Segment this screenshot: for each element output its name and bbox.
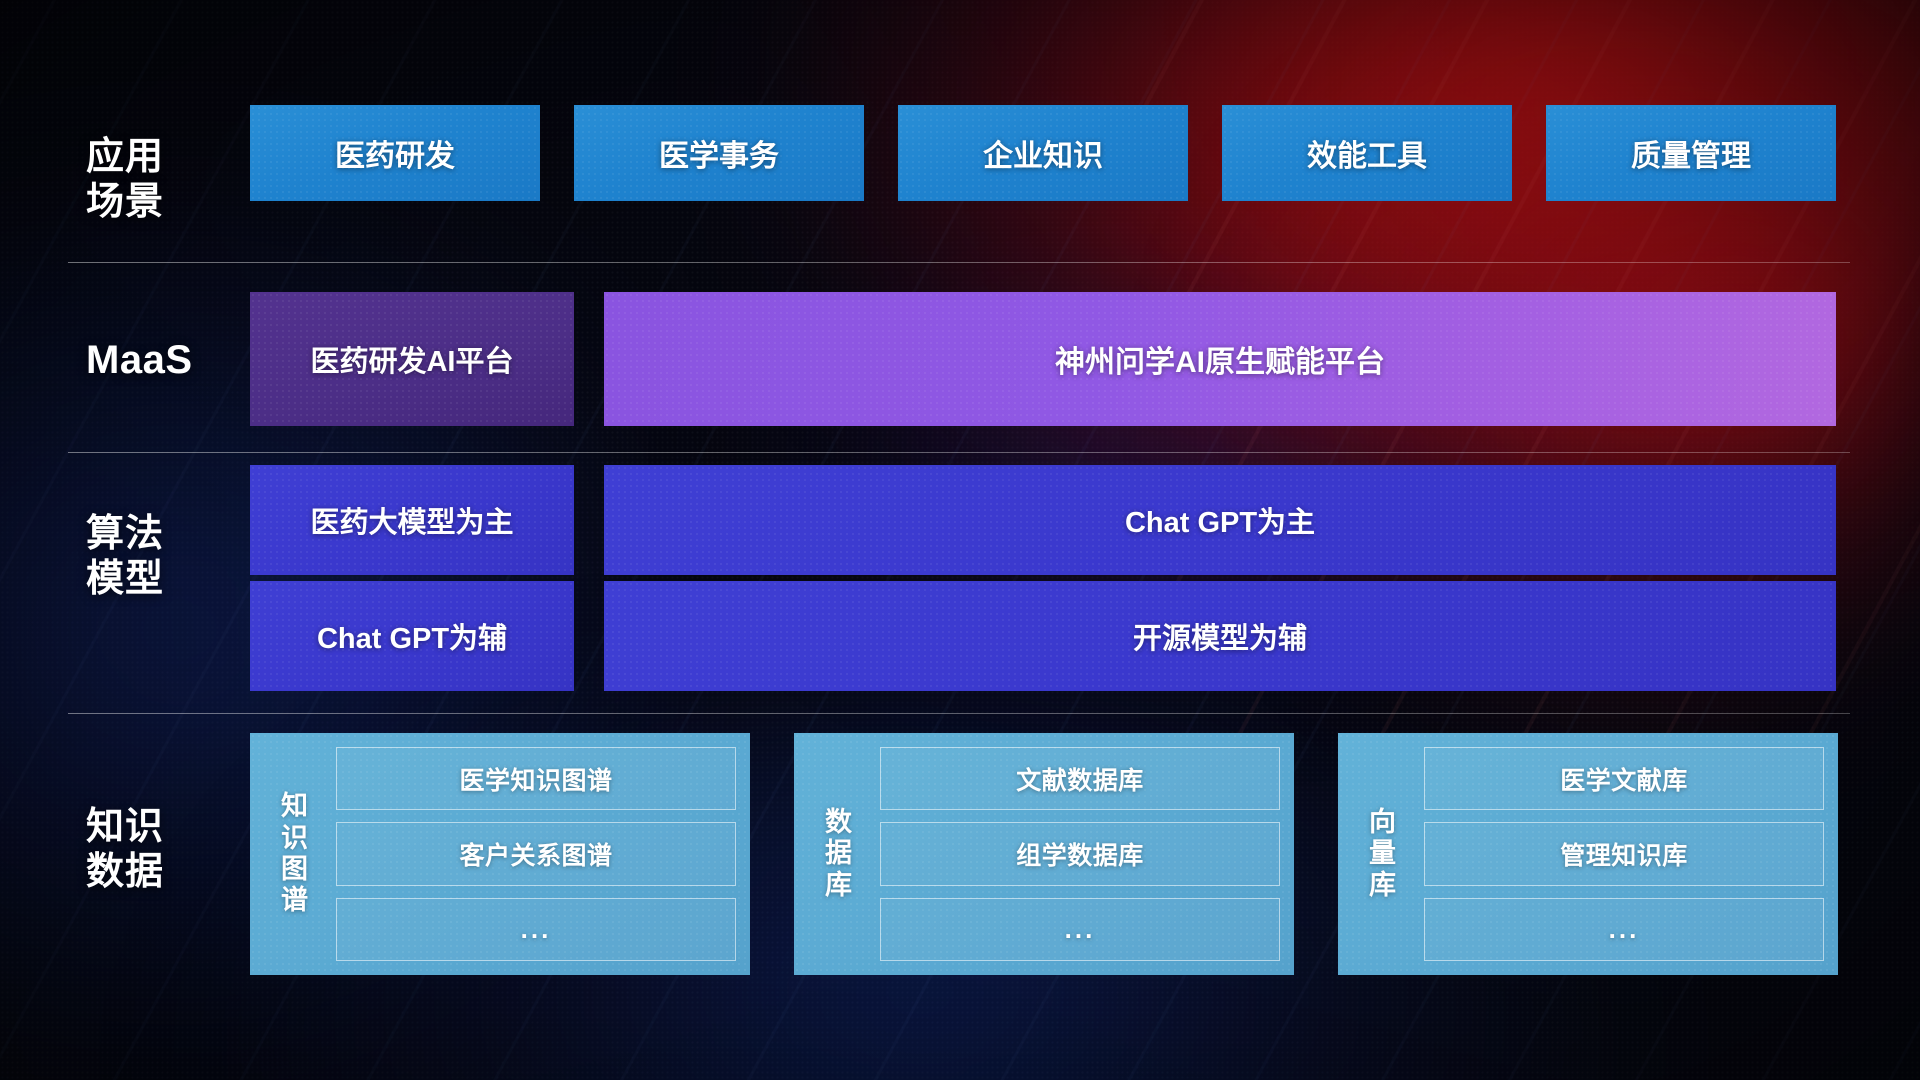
- algo-box-chatgpt-secondary-label: Chat GPT为辅: [317, 615, 507, 657]
- app-box-quality-management[interactable]: 质量管理: [1546, 105, 1836, 201]
- row-label-application: 应用 场景: [86, 135, 216, 225]
- app-box-efficiency-tools-label: 效能工具: [1307, 131, 1427, 175]
- algo-box-pharma-llm-primary-label: 医药大模型为主: [310, 499, 513, 541]
- knowledge-item-crm-graph[interactable]: 客户关系图谱: [336, 822, 736, 885]
- knowledge-group-vector-side-label: 向 量 库: [1354, 747, 1412, 961]
- knowledge-group-database-items: 文献数据库 组学数据库 ...: [880, 747, 1280, 961]
- knowledge-item-medical-graph[interactable]: 医学知识图谱: [336, 747, 736, 810]
- algo-box-chatgpt-secondary[interactable]: Chat GPT为辅: [250, 581, 574, 691]
- app-box-quality-management-label: 质量管理: [1631, 131, 1751, 175]
- algo-box-opensource-secondary[interactable]: 开源模型为辅: [604, 581, 1836, 691]
- knowledge-item-graph-more[interactable]: ...: [336, 898, 736, 961]
- knowledge-group-database[interactable]: 数 据 库 文献数据库 组学数据库 ...: [794, 733, 1294, 975]
- knowledge-item-vector-more[interactable]: ...: [1424, 898, 1824, 961]
- maas-box-shenzhou-platform-label: 神州问学AI原生赋能平台: [1055, 337, 1385, 381]
- divider-application-maas: [68, 262, 1850, 263]
- app-box-efficiency-tools[interactable]: 效能工具: [1222, 105, 1512, 201]
- row-label-algorithm: 算法 模型: [86, 512, 216, 602]
- app-box-enterprise-knowledge-label: 企业知识: [983, 131, 1103, 175]
- maas-box-shenzhou-platform[interactable]: 神州问学AI原生赋能平台: [604, 292, 1836, 426]
- knowledge-group-vector-items: 医学文献库 管理知识库 ...: [1424, 747, 1824, 961]
- algo-box-chatgpt-primary[interactable]: Chat GPT为主: [604, 465, 1836, 575]
- knowledge-group-graph-side-label: 知 识 图 谱: [266, 747, 324, 961]
- knowledge-item-database-more[interactable]: ...: [880, 898, 1280, 961]
- knowledge-item-literature-db[interactable]: 文献数据库: [880, 747, 1280, 810]
- divider-algorithm-knowledge: [68, 713, 1850, 714]
- knowledge-item-medical-literature[interactable]: 医学文献库: [1424, 747, 1824, 810]
- algo-box-chatgpt-primary-label: Chat GPT为主: [1125, 499, 1315, 541]
- maas-box-drug-ai-platform-label: 医药研发AI平台: [310, 338, 513, 380]
- architecture-diagram: 应用 场景 医药研发 医学事务 企业知识 效能工具 质量管理 MaaS 医药研发…: [0, 0, 1920, 1080]
- algo-box-opensource-secondary-label: 开源模型为辅: [1133, 615, 1307, 657]
- maas-box-drug-ai-platform[interactable]: 医药研发AI平台: [250, 292, 574, 426]
- app-box-drug-rd[interactable]: 医药研发: [250, 105, 540, 201]
- divider-maas-algorithm: [68, 452, 1850, 453]
- knowledge-group-database-side-label: 数 据 库: [810, 747, 868, 961]
- knowledge-item-omics-db[interactable]: 组学数据库: [880, 822, 1280, 885]
- app-box-drug-rd-label: 医药研发: [335, 131, 455, 175]
- app-box-medical-affairs[interactable]: 医学事务: [574, 105, 864, 201]
- app-box-medical-affairs-label: 医学事务: [659, 131, 779, 175]
- knowledge-item-management-knowledge[interactable]: 管理知识库: [1424, 822, 1824, 885]
- knowledge-group-graph-items: 医学知识图谱 客户关系图谱 ...: [336, 747, 736, 961]
- row-label-knowledge: 知识 数据: [86, 805, 216, 895]
- app-box-enterprise-knowledge[interactable]: 企业知识: [898, 105, 1188, 201]
- row-label-maas: MaaS: [86, 337, 216, 384]
- knowledge-group-graph[interactable]: 知 识 图 谱 医学知识图谱 客户关系图谱 ...: [250, 733, 750, 975]
- knowledge-group-vector[interactable]: 向 量 库 医学文献库 管理知识库 ...: [1338, 733, 1838, 975]
- algo-box-pharma-llm-primary[interactable]: 医药大模型为主: [250, 465, 574, 575]
